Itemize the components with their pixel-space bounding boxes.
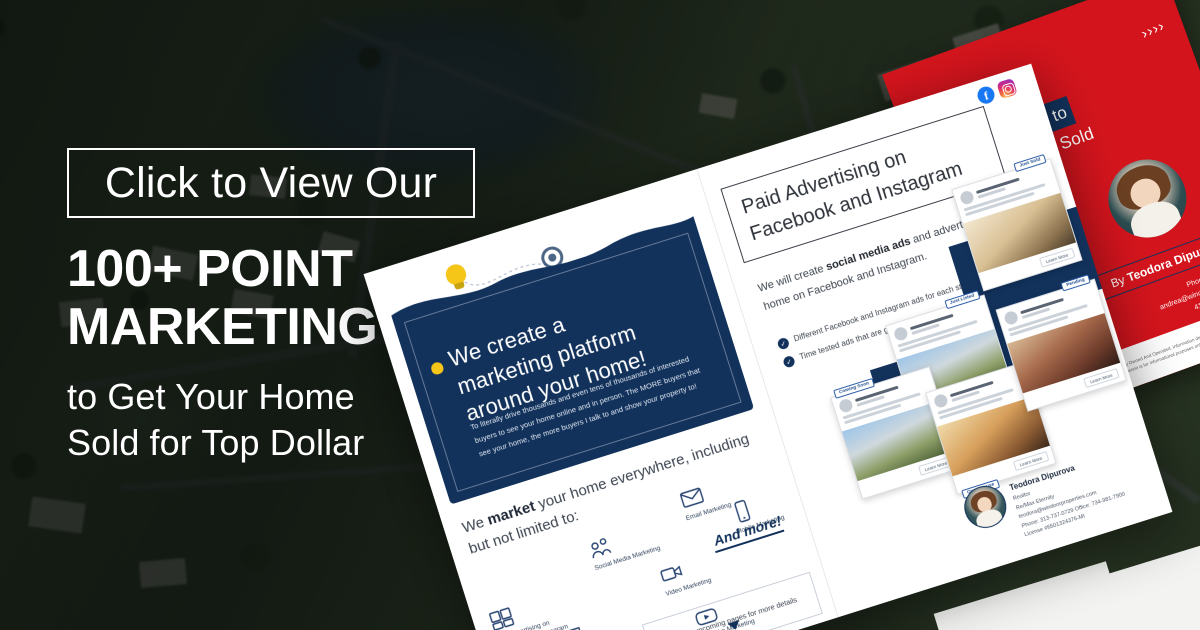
- avatar: [1003, 310, 1019, 326]
- email-icon: [677, 483, 707, 513]
- avatar: [959, 189, 975, 205]
- paid-ads-icon: [486, 604, 516, 630]
- click-to-view-cta[interactable]: Click to View Our: [67, 148, 475, 218]
- social-media-icon: [586, 532, 616, 562]
- agent-portrait-cover: [1097, 148, 1197, 248]
- cta-label: Click to View Our: [105, 162, 437, 205]
- facebook-icon: f: [975, 84, 996, 105]
- instagram-icon: [996, 78, 1017, 99]
- check-icon: ✓: [782, 355, 796, 369]
- avatar: [933, 393, 949, 409]
- avatar: [838, 398, 854, 414]
- social-platform-icons: f: [975, 78, 1017, 106]
- avatar: [893, 326, 909, 342]
- byline-prefix: By: [1109, 273, 1127, 291]
- channel-paid-advertising[interactable]: Paid Advertising on Facebook and Instagr…: [486, 582, 591, 630]
- promo-banner: Click to View Our 100+ POINT MARKETING P…: [0, 0, 1200, 630]
- check-icon: ✓: [776, 337, 790, 351]
- video-icon: [657, 558, 687, 588]
